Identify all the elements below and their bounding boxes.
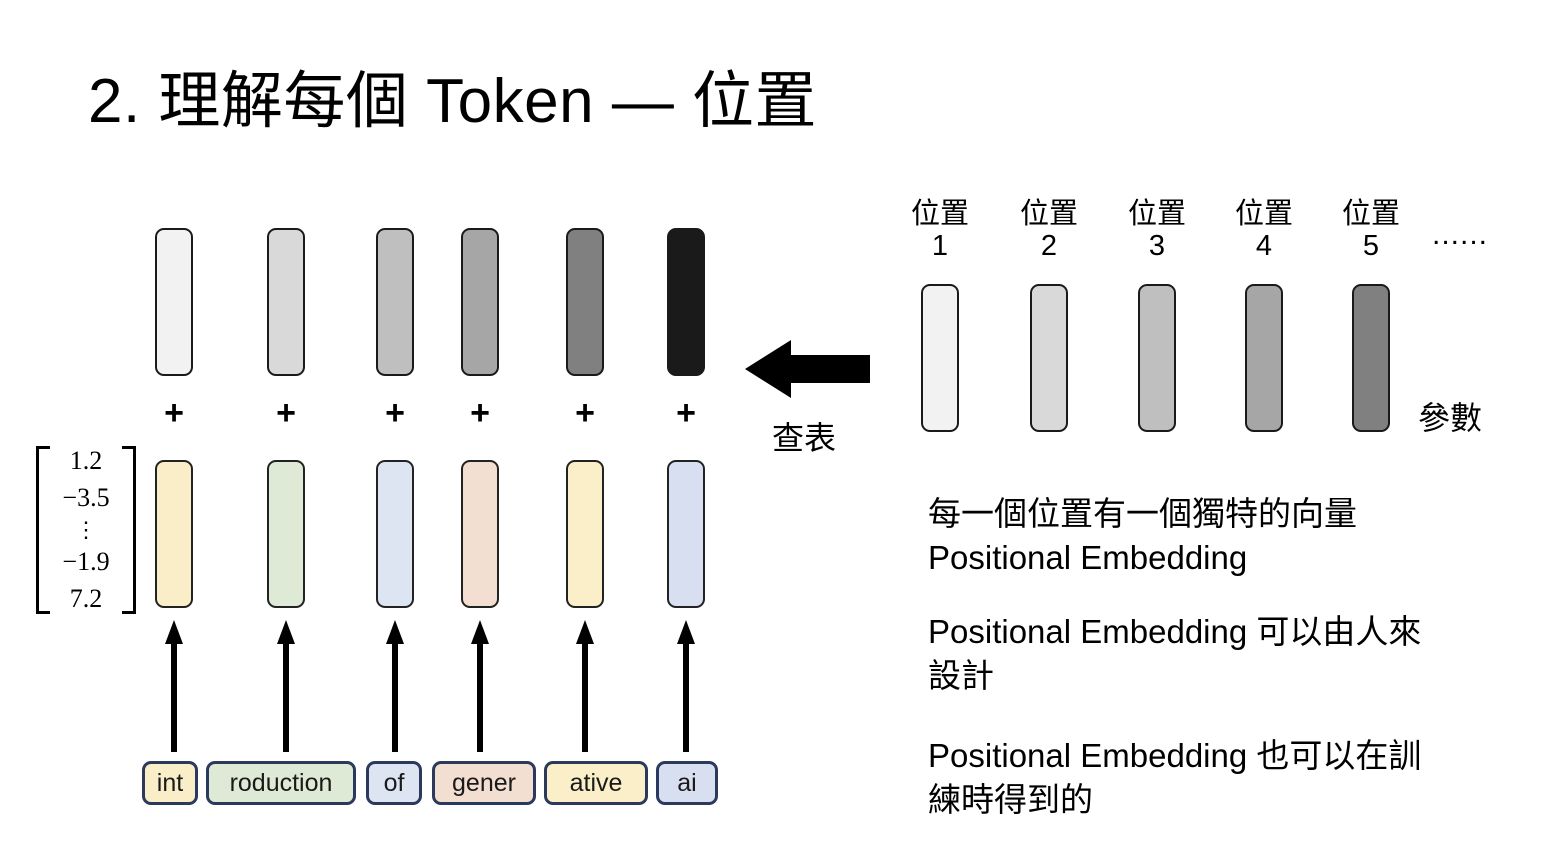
- vector-values: 1.2−3.5⋮−1.97.2: [48, 448, 124, 612]
- token-chip: roduction: [206, 761, 356, 805]
- position-embedding-bar: [1030, 284, 1068, 432]
- summed-vector-bar: [461, 228, 499, 376]
- position-embedding-bar: [1138, 284, 1176, 432]
- position-header-number: 2: [1009, 230, 1089, 262]
- position-header: 位置1: [900, 198, 980, 263]
- up-arrow-icon: [376, 620, 414, 752]
- summed-vector-bar: [155, 228, 193, 376]
- summed-vector-bar: [667, 228, 705, 376]
- token-embedding-bar: [566, 460, 604, 608]
- vector-value: ⋮: [75, 521, 97, 539]
- up-arrow-icon: [667, 620, 705, 752]
- summed-vector-bar: [376, 228, 414, 376]
- parameters-label: 參數: [1418, 393, 1482, 439]
- vector-value: −1.9: [62, 549, 109, 575]
- token-chip: int: [142, 761, 198, 805]
- plus-sign-icon: +: [376, 396, 414, 430]
- note-text: Positional Embedding 可以由人來設計: [928, 610, 1448, 698]
- token-chip: ative: [544, 761, 648, 805]
- plus-sign-icon: +: [461, 396, 499, 430]
- position-ellipsis: ......: [1432, 218, 1488, 252]
- position-embedding-bar: [921, 284, 959, 432]
- left-arrow-icon: [745, 338, 870, 400]
- token-embedding-bar: [461, 460, 499, 608]
- bracket-right-icon: [122, 446, 136, 614]
- position-header-label: 位置: [911, 198, 969, 230]
- position-header-label: 位置: [1128, 198, 1186, 230]
- position-header-label: 位置: [1342, 198, 1400, 230]
- position-header-label: 位置: [1020, 198, 1078, 230]
- summed-vector-bar: [267, 228, 305, 376]
- position-embedding-bar: [1352, 284, 1390, 432]
- position-header-number: 3: [1117, 230, 1197, 262]
- token-chip: of: [366, 761, 422, 805]
- token-embedding-bar: [267, 460, 305, 608]
- token-embedding-bar: [376, 460, 414, 608]
- position-header: 位置2: [1009, 198, 1089, 263]
- position-header: 位置3: [1117, 198, 1197, 263]
- plus-sign-icon: +: [566, 396, 604, 430]
- position-header: 位置5: [1331, 198, 1411, 263]
- up-arrow-icon: [155, 620, 193, 752]
- note-text: Positional Embedding 也可以在訓練時得到的: [928, 734, 1448, 822]
- up-arrow-icon: [461, 620, 499, 752]
- position-embedding-bar: [1245, 284, 1283, 432]
- plus-sign-icon: +: [267, 396, 305, 430]
- position-header-number: 1: [900, 230, 980, 262]
- position-header-number: 4: [1224, 230, 1304, 262]
- plus-sign-icon: +: [155, 396, 193, 430]
- embedding-vector-notation: 1.2−3.5⋮−1.97.2: [36, 446, 136, 614]
- token-embedding-bar: [667, 460, 705, 608]
- position-header-number: 5: [1331, 230, 1411, 262]
- plus-sign-icon: +: [667, 396, 705, 430]
- summed-vector-bar: [566, 228, 604, 376]
- lookup-label: 查表: [772, 413, 836, 459]
- token-embedding-bar: [155, 460, 193, 608]
- vector-value: 1.2: [70, 448, 103, 474]
- note-text: 每一個位置有一個獨特的向量 Positional Embedding: [928, 492, 1448, 580]
- token-chip: ai: [656, 761, 718, 805]
- page-title: 2. 理解每個 Token — 位置: [88, 68, 817, 136]
- vector-value: 7.2: [70, 586, 103, 612]
- up-arrow-icon: [566, 620, 604, 752]
- vector-value: −3.5: [62, 485, 109, 511]
- token-chip: gener: [432, 761, 536, 805]
- position-header-label: 位置: [1235, 198, 1293, 230]
- position-header: 位置4: [1224, 198, 1304, 263]
- up-arrow-icon: [267, 620, 305, 752]
